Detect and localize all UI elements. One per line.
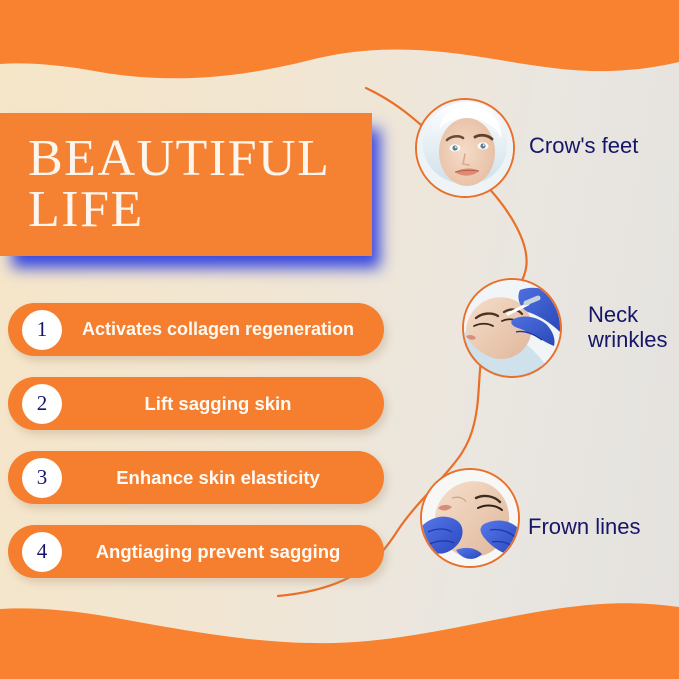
benefits-list: 1 Activates collagen regeneration 2 Lift… <box>8 303 384 599</box>
page-title: BEAUTIFUL LIFE <box>0 113 372 256</box>
beauty-infographic-poster: BEAUTIFUL LIFE 1 Activates collagen rege… <box>0 0 679 679</box>
benefit-item-2[interactable]: 2 Lift sagging skin <box>8 377 384 430</box>
callout-label-neck-wrinkles-line-1: Neck <box>588 303 667 328</box>
title-line-2: LIFE <box>28 185 372 236</box>
face-massage-gloves-photo <box>420 468 520 568</box>
benefit-number-badge-2: 2 <box>22 384 62 424</box>
orange-wave-top <box>0 0 679 120</box>
callout-label-frown-lines: Frown lines <box>528 515 640 540</box>
benefit-label-4: Angtiaging prevent sagging <box>38 541 355 563</box>
benefit-number-badge-1: 1 <box>22 310 62 350</box>
benefit-item-1[interactable]: 1 Activates collagen regeneration <box>8 303 384 356</box>
benefit-label-1: Activates collagen regeneration <box>24 319 368 340</box>
woman-face-headband-photo <box>415 98 515 198</box>
neck-injection-treatment-photo <box>462 278 562 378</box>
benefit-number-badge-4: 4 <box>22 532 62 572</box>
callout-label-crows-feet: Crow's feet <box>529 134 638 159</box>
benefit-number-badge-3: 3 <box>22 458 62 498</box>
callout-label-neck-wrinkles-line-2: wrinkles <box>588 328 667 353</box>
benefit-item-3[interactable]: 3 Enhance skin elasticity <box>8 451 384 504</box>
benefit-label-2: Lift sagging skin <box>87 393 306 415</box>
benefit-label-3: Enhance skin elasticity <box>58 467 334 489</box>
title-line-1: BEAUTIFUL <box>28 134 372 185</box>
benefit-item-4[interactable]: 4 Angtiaging prevent sagging <box>8 525 384 578</box>
callout-label-neck-wrinkles: Neck wrinkles <box>588 303 667 353</box>
